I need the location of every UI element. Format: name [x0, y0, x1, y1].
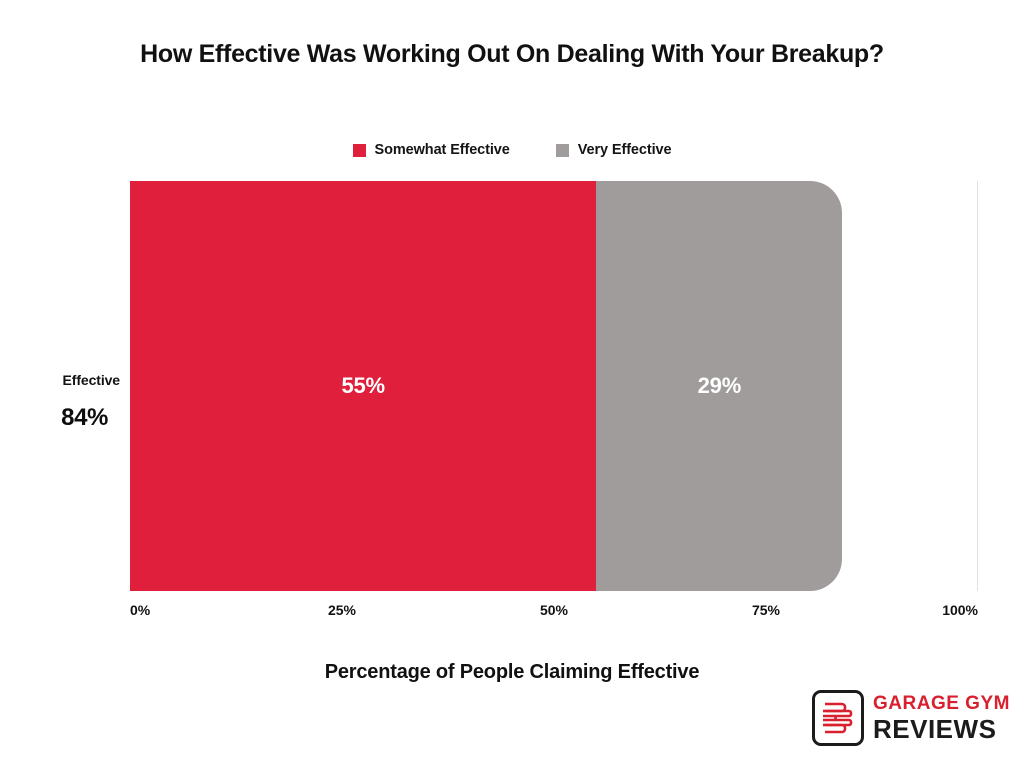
legend-item-very-effective[interactable]: Very Effective — [556, 142, 672, 158]
logo-wordmark: GARAGE GYM REVIEWS — [873, 694, 1010, 742]
x-axis-tick-label: 75% — [752, 602, 780, 618]
x-axis-tick-label: 25% — [328, 602, 356, 618]
bar-segment-value: 29% — [698, 373, 741, 399]
brand-logo[interactable]: GARAGE GYM REVIEWS — [812, 690, 1010, 746]
chart-title: How Effective Was Working Out On Dealing… — [0, 40, 1024, 69]
legend-swatch-icon — [353, 144, 366, 157]
x-axis-tick-label: 100% — [942, 602, 978, 618]
logo-bottom-text: REVIEWS — [873, 716, 1010, 742]
category-total: 84% — [10, 404, 108, 432]
gridline-100 — [977, 181, 978, 591]
bar-segment-value: 55% — [341, 373, 384, 399]
legend-item-somewhat-effective[interactable]: Somewhat Effective — [353, 142, 510, 158]
category-label-block: Effective 84% — [10, 372, 120, 432]
legend-label: Very Effective — [578, 142, 672, 158]
logo-top-text: GARAGE GYM — [873, 694, 1010, 713]
legend-swatch-icon — [556, 144, 569, 157]
plot-area: 55% 29% — [130, 181, 978, 591]
legend-label: Somewhat Effective — [375, 142, 510, 158]
x-axis-title: Percentage of People Claiming Effective — [0, 661, 1024, 684]
bar-segment-somewhat-effective[interactable]: 55% — [130, 181, 596, 591]
x-axis-tick-label: 50% — [540, 602, 568, 618]
weight-rack-icon — [812, 690, 864, 746]
x-axis-ticks: 0%25%50%75%100% — [130, 602, 978, 622]
category-name: Effective — [10, 372, 120, 388]
stacked-bar[interactable]: 55% 29% — [130, 181, 842, 591]
chart-legend: Somewhat Effective Very Effective — [0, 142, 1024, 158]
x-axis-tick-label: 0% — [130, 602, 150, 618]
bar-segment-very-effective[interactable]: 29% — [596, 181, 842, 591]
